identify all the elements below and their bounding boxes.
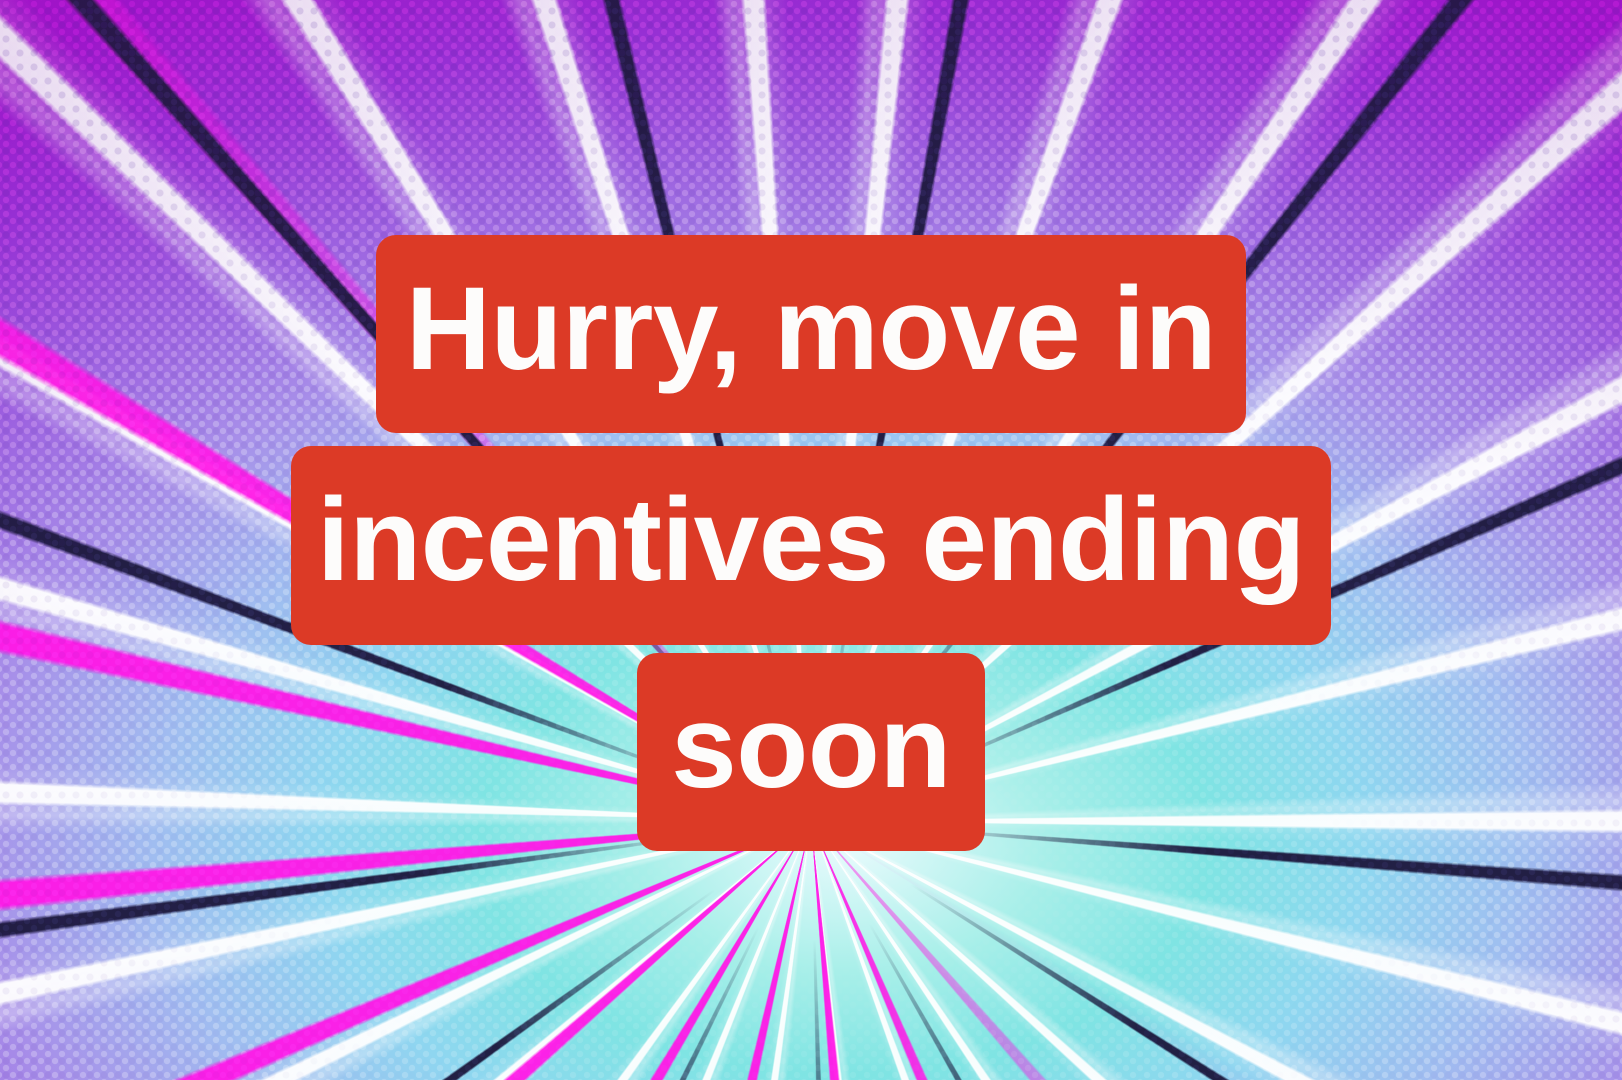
caption-line-3: soon: [637, 653, 985, 851]
poster-canvas: Hurry, move in incentives ending soon: [0, 0, 1622, 1080]
caption-block: Hurry, move in incentives ending soon: [0, 0, 1622, 1080]
caption-line-1: Hurry, move in: [376, 235, 1246, 433]
caption-line-2: incentives ending: [291, 446, 1331, 644]
